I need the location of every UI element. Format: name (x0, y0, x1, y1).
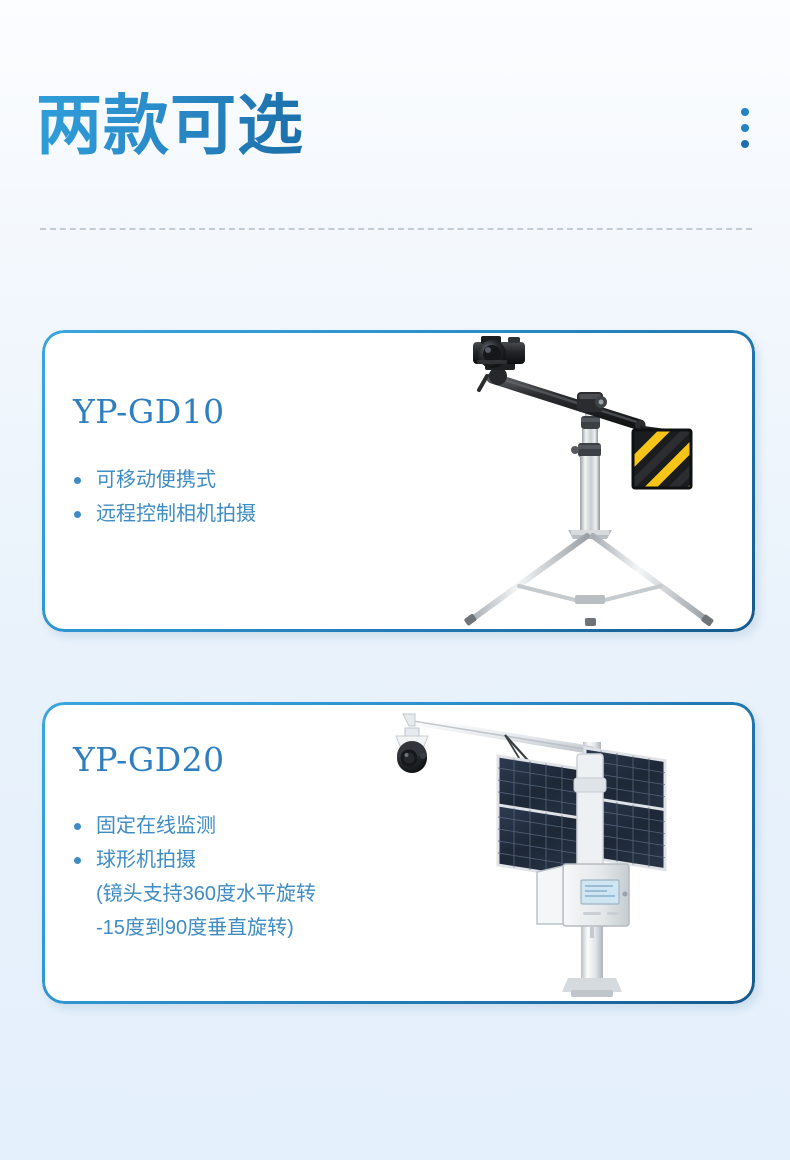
kebab-dot-2 (741, 124, 749, 132)
model-name-gd10: YP-GD10 (73, 392, 225, 431)
product-card-gd10[interactable]: YP-GD10 可移动便携式 远程控制相机拍摄 (42, 330, 755, 632)
bullet-icon (74, 511, 81, 518)
feature-sub-line: (镜头支持360度水平旋转 (70, 877, 316, 911)
feature-sub-line: -15度到90度垂直旋转) (70, 911, 316, 945)
feature-label: 固定在线监测 (96, 815, 216, 837)
bullet-icon (74, 857, 81, 864)
kebab-menu-icon[interactable] (738, 108, 752, 148)
page-title: 两款可选 (36, 92, 304, 158)
kebab-dot-3 (741, 140, 749, 148)
dashed-divider (40, 228, 752, 230)
portable-tripod-camera-boom-stand-image (435, 330, 735, 630)
feature-label: 远程控制相机拍摄 (96, 503, 256, 525)
model-name-gd20: YP-GD20 (73, 740, 225, 779)
list-item: 固定在线监测 (70, 809, 316, 843)
list-item: 球形机拍摄 (70, 843, 316, 877)
list-item: 可移动便携式 (70, 463, 256, 497)
feature-list-gd20: 固定在线监测 球形机拍摄 (镜头支持360度水平旋转 -15度到90度垂直旋转) (70, 809, 316, 945)
feature-label: 球形机拍摄 (96, 849, 196, 871)
bullet-icon (74, 823, 81, 830)
solar-powered-ptz-dome-monitoring-pole-image (385, 702, 755, 1002)
list-item: 远程控制相机拍摄 (70, 497, 256, 531)
bullet-icon (74, 477, 81, 484)
kebab-dot-1 (741, 108, 749, 116)
feature-label: 可移动便携式 (96, 469, 216, 491)
page-header: 两款可选 (0, 0, 790, 245)
product-card-gd20[interactable]: YP-GD20 固定在线监测 球形机拍摄 (镜头支持360度水平旋转 -15度到… (42, 702, 755, 1004)
feature-list-gd10: 可移动便携式 远程控制相机拍摄 (70, 463, 256, 531)
